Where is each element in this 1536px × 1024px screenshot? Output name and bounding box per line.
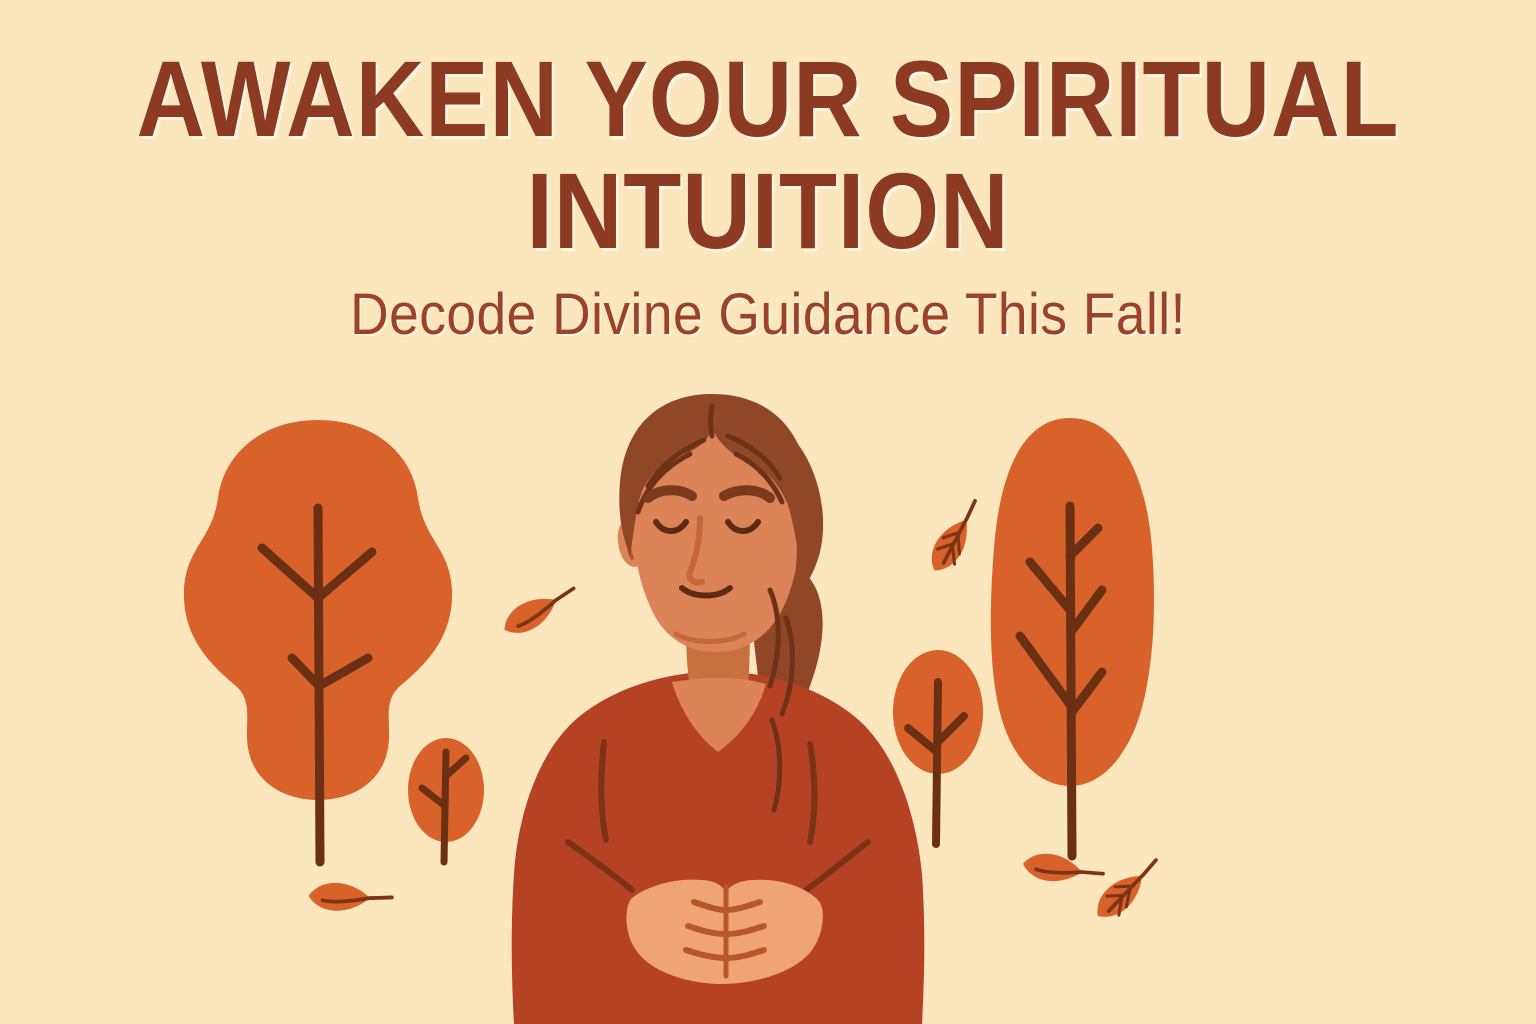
tree-small-left (408, 738, 484, 862)
leaf-lower-right-b (1089, 852, 1167, 926)
leaf-lower-left (308, 882, 392, 913)
leaf-lower-right-a (1021, 850, 1105, 888)
leaf-mid-left (498, 578, 581, 642)
headline-block: AWAKEN YOUR SPIRITUAL INTUITION Decode D… (0, 46, 1536, 344)
meditating-woman (512, 394, 925, 1024)
leaf-upper-right (923, 495, 989, 578)
page-title-line-1: AWAKEN YOUR SPIRITUAL (92, 46, 1444, 152)
poster-canvas: AWAKEN YOUR SPIRITUAL INTUITION Decode D… (0, 0, 1536, 1024)
tree-trunk (936, 682, 938, 844)
page-subtitle: Decode Divine Guidance This Fall! (61, 286, 1474, 344)
tree-tall-right (991, 418, 1154, 856)
page-title-line-2: INTUITION (92, 158, 1444, 264)
hair-part-line (711, 406, 713, 436)
